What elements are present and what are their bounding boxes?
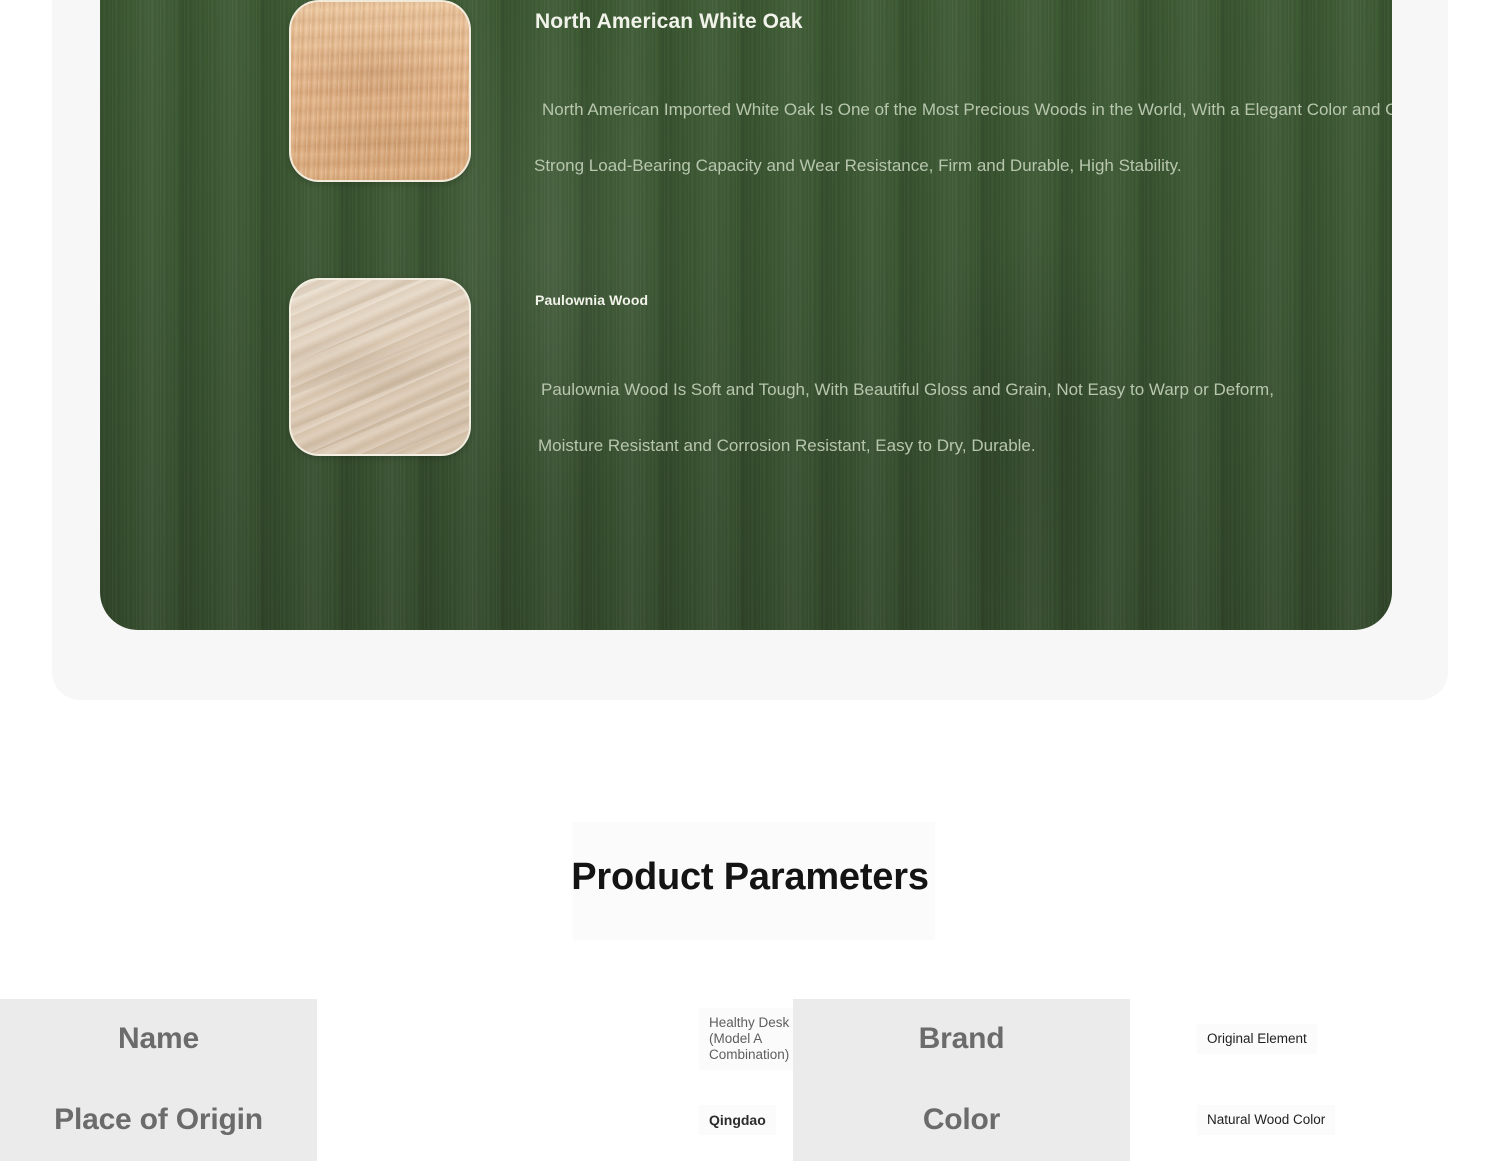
product-parameters-table: Name Healthy Desk (Model A Combination) …: [0, 999, 1500, 1161]
white-oak-desc-line-2: Strong Load-Bearing Capacity and Wear Re…: [534, 138, 1392, 194]
param-label-color-text: Color: [923, 1103, 1000, 1137]
paulownia-wood-title: Paulownia Wood: [535, 292, 648, 308]
param-value-name-text: Healthy Desk (Model A Combination): [709, 1015, 789, 1063]
param-value-color-text: Natural Wood Color: [1207, 1112, 1325, 1128]
param-value-place-of-origin-box: Qingdao: [699, 1105, 776, 1135]
param-label-name-text: Name: [118, 1022, 199, 1056]
param-value-brand-text: Original Element: [1207, 1031, 1307, 1047]
white-oak-title: North American White Oak: [535, 10, 803, 34]
product-detail-page: North American White Oak North American …: [0, 0, 1500, 1161]
white-oak-swatch: [289, 0, 471, 182]
paulownia-wood-description: Paulownia Wood Is Soft and Tough, With B…: [541, 362, 1274, 474]
param-value-name-box: Healthy Desk (Model A Combination): [699, 1008, 799, 1070]
paulownia-wood-swatch: [289, 278, 471, 456]
param-label-place-of-origin: Place of Origin: [0, 1079, 317, 1161]
param-value-place-of-origin: Qingdao: [317, 1079, 793, 1161]
paulownia-desc-line-2: Moisture Resistant and Corrosion Resista…: [538, 418, 1274, 474]
paulownia-desc-line-1: Paulownia Wood Is Soft and Tough, With B…: [541, 362, 1274, 418]
white-oak-description: North American Imported White Oak Is One…: [542, 82, 1392, 194]
param-value-brand: Original Element: [1130, 999, 1500, 1079]
param-label-place-of-origin-text: Place of Origin: [54, 1103, 263, 1137]
param-value-name: Healthy Desk (Model A Combination): [317, 999, 793, 1079]
param-label-brand-text: Brand: [919, 1022, 1005, 1056]
param-label-brand: Brand: [793, 999, 1130, 1079]
white-oak-desc-line-1: North American Imported White Oak Is One…: [542, 82, 1392, 138]
product-parameters-heading: Product Parameters: [0, 856, 1500, 899]
param-label-color: Color: [793, 1079, 1130, 1161]
param-value-color: Natural Wood Color: [1130, 1079, 1500, 1161]
materials-green-card: North American White Oak North American …: [100, 0, 1392, 630]
param-value-brand-box: Original Element: [1197, 1024, 1317, 1054]
param-label-name: Name: [0, 999, 317, 1079]
param-value-color-box: Natural Wood Color: [1197, 1105, 1335, 1135]
param-value-place-of-origin-text: Qingdao: [709, 1112, 766, 1128]
